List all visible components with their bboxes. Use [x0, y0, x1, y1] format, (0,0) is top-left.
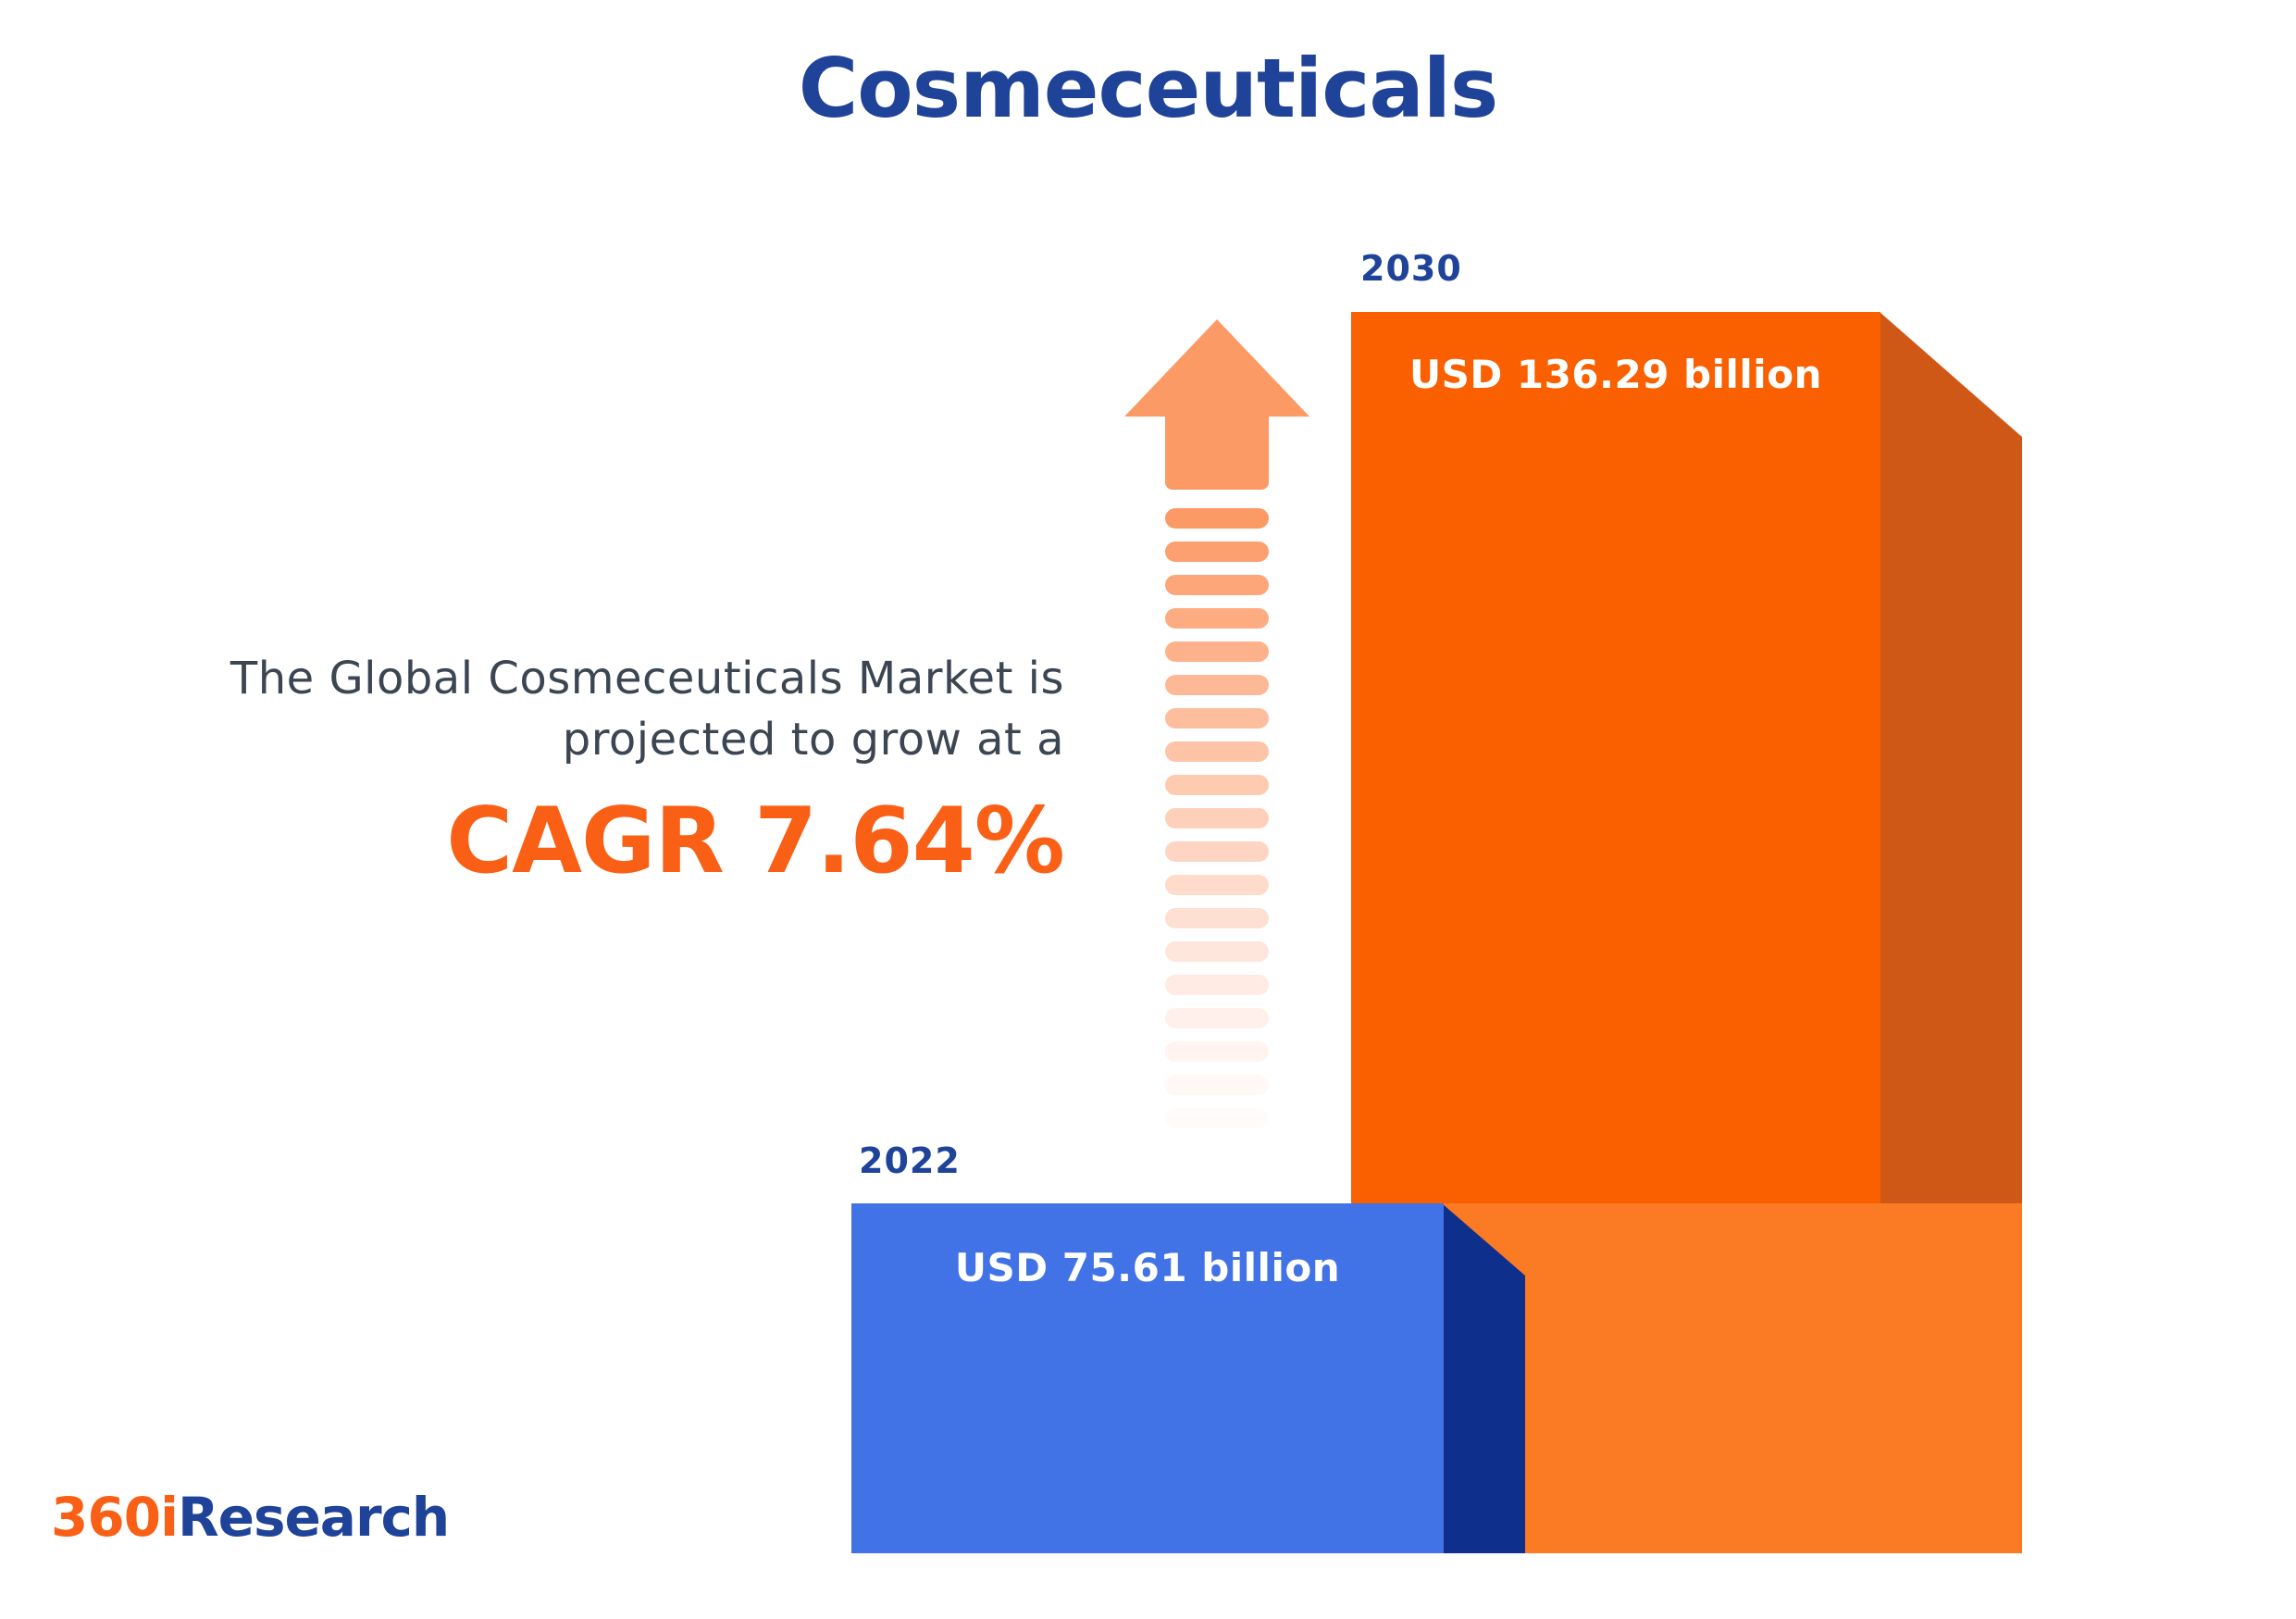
cagr-value: CAGR 7.64% [56, 791, 1064, 892]
arrow-stripe [1165, 1041, 1269, 1062]
arrow-stripe [1165, 542, 1269, 562]
brand-logo: 360iResearch [51, 1486, 449, 1549]
infographic-canvas: Cosmeceuticals The Global Cosmeceuticals… [0, 0, 2296, 1619]
arrow-stripe [1165, 775, 1269, 795]
page-title: Cosmeceuticals [0, 41, 2296, 136]
arrow-stripe [1165, 808, 1269, 828]
bar-2030-front-face [1351, 312, 1880, 1203]
arrow-stripe [1165, 941, 1269, 962]
arrow-stripe [1165, 1008, 1269, 1028]
arrow-stripe [1165, 675, 1269, 695]
arrow-head-icon [1124, 319, 1309, 417]
arrow-stripe [1165, 1075, 1269, 1095]
bar-value-2030: USD 136.29 billion [1351, 352, 1880, 397]
arrow-stripe [1165, 875, 1269, 895]
logo-text-360i: 360i [51, 1486, 178, 1549]
arrow-stripe [1165, 641, 1269, 662]
bar-label-2030: 2030 [1360, 248, 1462, 289]
bar-value-2022: USD 75.61 billion [851, 1245, 1444, 1290]
arrow-stripe [1165, 608, 1269, 629]
arrow-stripe [1165, 908, 1269, 928]
arrow-stripe [1165, 841, 1269, 862]
arrow-stripe [1165, 575, 1269, 595]
arrow-stripe [1165, 508, 1269, 529]
market-statement: The Global Cosmeceuticals Market is proj… [56, 648, 1064, 892]
logo-text-research: Research [178, 1486, 449, 1549]
arrow-stripe [1165, 708, 1269, 729]
arrow-stripe [1165, 741, 1269, 762]
arrow-stripe [1165, 975, 1269, 995]
growth-arrow-icon [1124, 319, 1309, 1143]
statement-line-2: projected to grow at a [56, 709, 1064, 770]
bar-2030-floor [1518, 1203, 2022, 1553]
arrow-stripe [1165, 1108, 1269, 1128]
statement-line-1: The Global Cosmeceuticals Market is [56, 648, 1064, 709]
arrow-stem [1165, 416, 1269, 490]
bar-label-2022: 2022 [859, 1140, 961, 1181]
